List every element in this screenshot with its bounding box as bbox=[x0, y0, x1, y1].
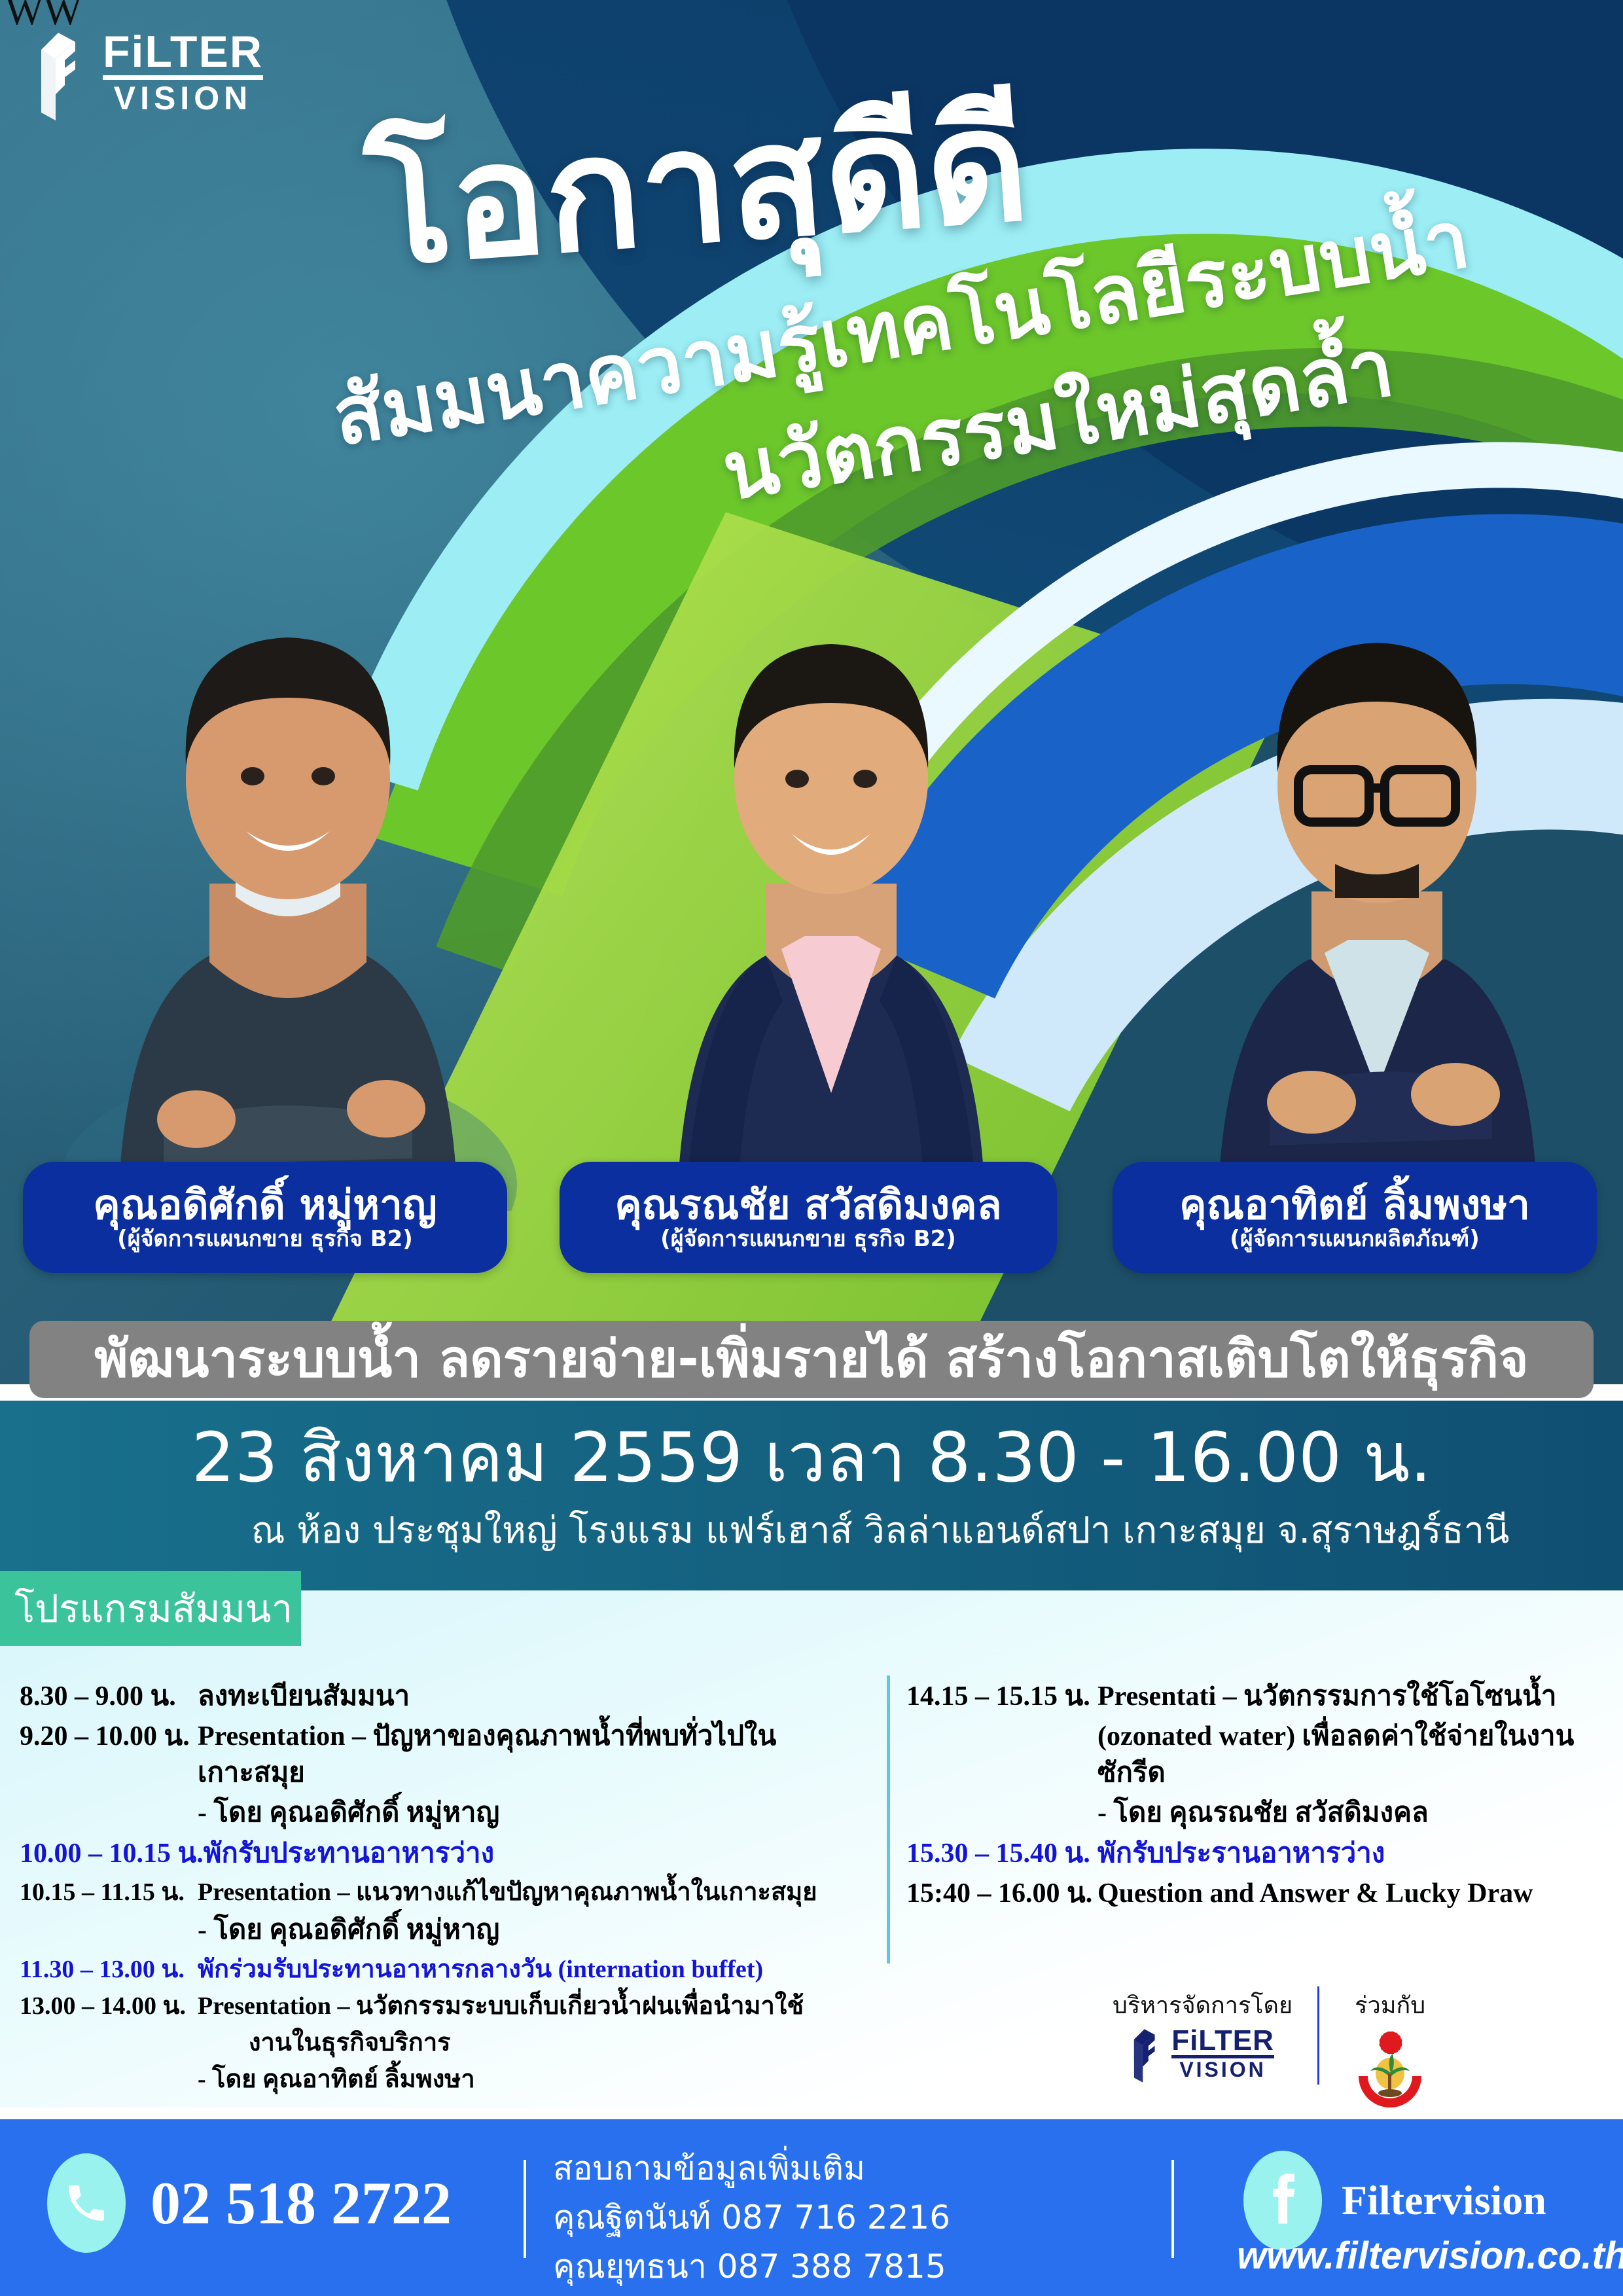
logo-text-vision: VISION bbox=[1171, 2058, 1274, 2079]
program-tab-label: โปรแกรมสัมมนา bbox=[14, 1578, 293, 1639]
program-desc: Presentati – นวัตกรรมการใช้โอโซนน้ำ bbox=[1097, 1679, 1607, 1715]
speaker-name-1: คุณอดิศักดิ์ หมู่หาญ bbox=[93, 1183, 437, 1226]
footer-phone-group[interactable]: 02 518 2722 bbox=[47, 2153, 452, 2253]
partner-emblem-icon bbox=[1344, 2028, 1436, 2119]
program-desc: Question and Answer & Lucky Draw bbox=[1097, 1876, 1607, 1912]
footer-contact-person-2: คุณยุทธนา 087 388 7815 bbox=[553, 2249, 950, 2285]
footer-contact-bar: 02 518 2722 สอบถามข้อมูลเพิ่มเติม คุณฐิต… bbox=[0, 2119, 1623, 2296]
logo-text-vision: VISION bbox=[103, 80, 263, 113]
logo-text-filter: FiLTER bbox=[103, 31, 263, 80]
seminar-poster: FiLTER VISION โอกาสุดีดี สัมมนาความรู้เท… bbox=[0, 0, 1623, 2296]
program-time: 8.30 – 9.00 น. bbox=[20, 1679, 198, 1715]
program-column-left: 8.30 – 9.00 น. ลงทะเบียนสัมมนา 9.20 – 10… bbox=[20, 1679, 877, 2100]
event-venue: ณ ห้อง ประชุมใหญ่ โรงแรม แฟร์เฮาส์ วิลล่… bbox=[0, 1511, 1623, 1551]
brand-logo: FiLTER VISION bbox=[36, 31, 263, 122]
program-cont: (ozonated water) เพื่อลดค่าใช้จ่ายในงานซ… bbox=[1097, 1719, 1607, 1791]
filtervision-f-logo-icon bbox=[1131, 2028, 1168, 2084]
program-time: 11.30 – 13.00 น. bbox=[20, 1953, 198, 1986]
speaker-badge-1: คุณอดิศักดิ์ หมู่หาญ (ผู้จัดการแผนกขาย ธ… bbox=[23, 1162, 507, 1273]
speaker-badges: คุณอดิศักดิ์ หมู่หาญ (ผู้จัดการแผนกขาย ธ… bbox=[0, 1162, 1623, 1276]
speaker-badge-2: คุณรณชัย สวัสดิมงคล (ผู้จัดการแผนกขาย ธุ… bbox=[560, 1162, 1057, 1273]
program-row: 8.30 – 9.00 น. ลงทะเบียนสัมมนา bbox=[20, 1679, 877, 1715]
footer-contact-person-1: คุณฐิตนันท์ 087 716 2216 bbox=[553, 2200, 950, 2236]
program-cont: - โดย คุณอดิศักดิ์ หมู่หาญ bbox=[198, 1912, 877, 1948]
footer-divider-1 bbox=[524, 2160, 526, 2258]
program-cont: งานในธุรกิจบริการ bbox=[249, 2026, 877, 2059]
tagline-bar: พัฒนาระบบน้ำ ลดรายจ่าย-เพิ่มรายได้ สร้าง… bbox=[29, 1321, 1594, 1398]
speaker-photos bbox=[0, 556, 1623, 1211]
footer-phone-number: 02 518 2722 bbox=[151, 2168, 452, 2238]
program-row: 15:40 – 16.00 น. Question and Answer & L… bbox=[906, 1876, 1607, 1912]
footer-contact-heading: สอบถามข้อมูลเพิ่มเติม bbox=[553, 2151, 950, 2187]
managed-by-label: บริหารจัดการโดย bbox=[1113, 1986, 1293, 2024]
program-desc: พักรับประรานอาหารว่าง bbox=[1097, 1836, 1607, 1872]
program-row: 15.30 – 15.40 น. พักรับประรานอาหารว่าง bbox=[906, 1836, 1607, 1872]
tagline-text: พัฒนาระบบน้ำ ลดรายจ่าย-เพิ่มรายได้ สร้าง… bbox=[94, 1334, 1529, 1385]
speaker-photo-3 bbox=[1152, 589, 1603, 1211]
program-column-right: 14.15 – 15.15 น. Presentati – นวัตกรรมกา… bbox=[906, 1679, 1607, 1916]
program-cont: - โดย คุณรณชัย สวัสดิมงคล bbox=[1097, 1795, 1607, 1831]
program-cont: - โดย คุณอดิศักดิ์ หมู่หาญ bbox=[198, 1795, 877, 1831]
program-time: 14.15 – 15.15 น. bbox=[906, 1679, 1097, 1715]
filtervision-logo-small: FiLTER VISION bbox=[1131, 2028, 1274, 2084]
speaker-photo-2 bbox=[609, 583, 1054, 1211]
program-time: 13.00 – 14.00 น. bbox=[20, 1990, 198, 2022]
program-row: 9.20 – 10.00 น. Presentation – ปัญหาของค… bbox=[20, 1719, 877, 1791]
program-desc: พักรับประทานอาหารว่าง bbox=[204, 1836, 877, 1872]
speaker-role-1: (ผู้จัดการแผนกขาย ธุรกิจ B2) bbox=[117, 1227, 413, 1251]
program-desc: พักร่วมรับประทานอาหารกลางวัน (internatio… bbox=[198, 1953, 877, 1986]
program-time: 15:40 – 16.00 น. bbox=[906, 1876, 1097, 1912]
program-cont: - โดย คุณอาทิตย์ ลิ้มพงษา bbox=[198, 2063, 877, 2096]
speaker-name-3: คุณอาทิตย์ ลิ้มพงษา bbox=[1179, 1183, 1530, 1226]
footer-contact-block: สอบถามข้อมูลเพิ่มเติม คุณฐิตนันท์ 087 71… bbox=[553, 2151, 950, 2285]
managed-by-block: บริหารจัดการโดย FiLTER VISION bbox=[1113, 1986, 1293, 2084]
in-cooperation-label: ร่วมกับ bbox=[1355, 1986, 1425, 2024]
program-row: 10.00 – 10.15 น. พักรับประทานอาหารว่าง bbox=[20, 1836, 877, 1872]
program-time: 10.15 – 11.15 น. bbox=[20, 1876, 198, 1909]
speaker-name-2: คุณรณชัย สวัสดิมงคล bbox=[615, 1183, 1001, 1226]
phone-icon bbox=[47, 2153, 126, 2253]
program-row: 14.15 – 15.15 น. Presentati – นวัตกรรมกา… bbox=[906, 1679, 1607, 1715]
program-column-divider bbox=[887, 1676, 890, 1964]
program-time: 10.00 – 10.15 น. bbox=[20, 1836, 204, 1872]
footer-website[interactable]: www.filtervision.co.th bbox=[1237, 2234, 1623, 2278]
footer-ww-artifact: WW bbox=[5, 0, 82, 35]
program-time: 15.30 – 15.40 น. bbox=[906, 1836, 1097, 1872]
program-desc: Presentation – นวัตกรรมระบบเก็บเกี่ยวน้ำ… bbox=[198, 1990, 877, 2022]
speaker-badge-3: คุณอาทิตย์ ลิ้มพงษา (ผู้จัดการแผนกผลิตภั… bbox=[1113, 1162, 1597, 1273]
organiser-divider bbox=[1317, 1986, 1319, 2085]
program-desc: ลงทะเบียนสัมมนา bbox=[198, 1679, 877, 1715]
program-row: 11.30 – 13.00 น. พักร่วมรับประทานอาหารกล… bbox=[20, 1953, 877, 1986]
organiser-logos: บริหารจัดการโดย FiLTER VISION ร่วมกับ bbox=[1113, 1986, 1597, 2111]
speaker-role-3: (ผู้จัดการแผนกผลิตภัณฑ์) bbox=[1230, 1227, 1480, 1251]
event-date-strip: 23 สิงหาคม 2559 เวลา 8.30 - 16.00 น. ณ ห… bbox=[0, 1401, 1623, 1590]
program-row: 10.15 – 11.15 น. Presentation – แนวทางแก… bbox=[20, 1876, 877, 1909]
in-cooperation-block: ร่วมกับ bbox=[1344, 1986, 1436, 2119]
program-time: 9.20 – 10.00 น. bbox=[20, 1719, 198, 1791]
program-row: 13.00 – 14.00 น. Presentation – นวัตกรรม… bbox=[20, 1990, 877, 2022]
logo-text-filter: FiLTER bbox=[1171, 2028, 1274, 2058]
footer-divider-2 bbox=[1171, 2160, 1174, 2258]
program-desc: Presentation – ปัญหาของคุณภาพน้ำที่พบทั่… bbox=[198, 1719, 877, 1791]
program-desc: Presentation – แนวทางแก้ไขปัญหาคุณภาพน้ำ… bbox=[198, 1876, 877, 1909]
program-tab: โปรแกรมสัมมนา bbox=[0, 1571, 301, 1646]
event-date-time: 23 สิงหาคม 2559 เวลา 8.30 - 16.00 น. bbox=[0, 1420, 1623, 1495]
footer-facebook-name: Filtervision bbox=[1342, 2176, 1546, 2225]
speaker-photo-1 bbox=[39, 569, 537, 1211]
filtervision-f-logo-icon bbox=[36, 31, 96, 122]
speaker-role-2: (ผู้จัดการแผนกขาย ธุรกิจ B2) bbox=[660, 1227, 956, 1251]
